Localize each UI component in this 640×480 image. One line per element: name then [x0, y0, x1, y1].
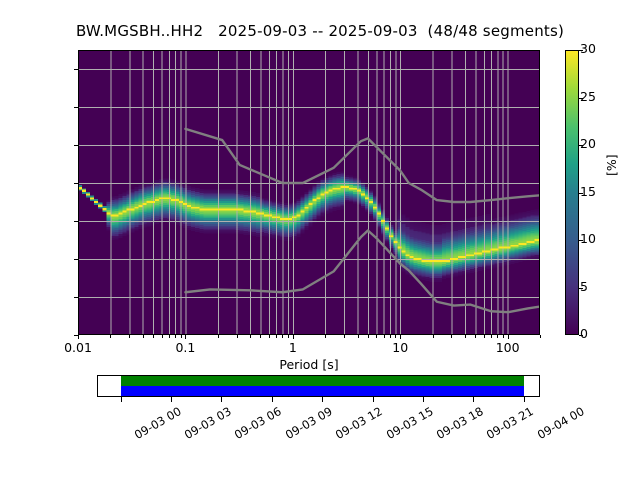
timeline-tick-label: 09-03 00	[132, 404, 184, 442]
x-minor-tick-mark	[358, 335, 359, 338]
timeline-tick-label: 09-03 18	[434, 404, 486, 442]
x-tick-label: 0.1	[175, 340, 195, 355]
x-minor-tick-mark	[153, 335, 154, 338]
colorbar-tick-mark	[579, 335, 583, 336]
x-tick-label: 10	[392, 340, 408, 355]
x-minor-tick-mark	[484, 335, 485, 338]
x-minor-tick-mark	[465, 335, 466, 338]
colorbar-tick-mark	[579, 288, 583, 289]
x-major-tick-mark	[185, 335, 186, 339]
ppsd-figure: BW.MGSBH..HH2 2025-09-03 -- 2025-09-03 (…	[0, 0, 640, 480]
y-tick-mark	[74, 183, 78, 184]
timeline-tick-mark	[524, 397, 525, 402]
x-minor-tick-mark	[497, 335, 498, 338]
x-minor-tick-mark	[540, 335, 541, 338]
colorbar-tick-mark	[579, 145, 583, 146]
colorbar-tick-mark	[579, 50, 583, 51]
x-minor-tick-mark	[344, 335, 345, 338]
x-minor-tick-mark	[218, 335, 219, 338]
x-minor-tick-mark	[143, 335, 144, 338]
timeline-tick-mark	[322, 397, 323, 402]
psd-canvas	[78, 50, 540, 335]
y-tick-mark	[74, 69, 78, 70]
colorbar-tick-label: 25	[580, 92, 596, 102]
x-minor-tick-mark	[129, 335, 130, 338]
x-minor-tick-mark	[260, 335, 261, 338]
timeline-tick-label: 09-03 03	[182, 404, 234, 442]
y-tick-mark	[74, 297, 78, 298]
data-coverage-bar	[121, 376, 524, 386]
timeline-tick-label: 09-03 21	[484, 404, 536, 442]
x-minor-tick-mark	[288, 335, 289, 338]
timeline-tick-label: 09-03 12	[333, 404, 385, 442]
timeline-tick-mark	[473, 397, 474, 402]
x-minor-tick-mark	[325, 335, 326, 338]
x-minor-tick-mark	[395, 335, 396, 338]
x-minor-tick-mark	[250, 335, 251, 338]
x-tick-label: 100	[496, 340, 520, 355]
timeline-tick-mark	[272, 397, 273, 402]
y-tick-mark	[74, 107, 78, 108]
colorbar[interactable]	[565, 50, 579, 335]
timeline-tick-label: 09-04 00	[534, 404, 586, 442]
x-minor-tick-mark	[376, 335, 377, 338]
timeline-tick-mark	[423, 397, 424, 402]
x-minor-tick-mark	[282, 335, 283, 338]
x-minor-tick-mark	[368, 335, 369, 338]
colorbar-tick-label: 15	[580, 187, 596, 197]
x-tick-label: 1	[289, 340, 297, 355]
x-minor-tick-mark	[390, 335, 391, 338]
x-major-tick-mark	[293, 335, 294, 339]
timeline-tick-mark	[121, 397, 122, 402]
colorbar-tick-label: 5	[580, 282, 588, 292]
x-minor-tick-mark	[175, 335, 176, 338]
timeline-tick-label: 09-03 09	[283, 404, 335, 442]
x-minor-tick-mark	[110, 335, 111, 338]
colorbar-tick-label: 0	[580, 329, 588, 339]
timeline-tick-mark	[373, 397, 374, 402]
x-minor-tick-mark	[451, 335, 452, 338]
y-tick-mark	[74, 259, 78, 260]
colorbar-tick-label: 20	[580, 139, 596, 149]
x-major-tick-mark	[400, 335, 401, 339]
page-title: BW.MGSBH..HH2 2025-09-03 -- 2025-09-03 (…	[0, 22, 640, 40]
y-tick-mark	[74, 221, 78, 222]
colorbar-label: [%]	[604, 154, 619, 176]
x-minor-tick-mark	[169, 335, 170, 338]
psd-coverage-bar	[121, 386, 524, 396]
x-major-tick-mark	[508, 335, 509, 339]
timeline-tick-label: 09-03 06	[232, 404, 284, 442]
x-minor-tick-mark	[276, 335, 277, 338]
x-minor-tick-mark	[433, 335, 434, 338]
x-minor-tick-mark	[475, 335, 476, 338]
colorbar-tick-mark	[579, 98, 583, 99]
x-minor-tick-mark	[237, 335, 238, 338]
x-minor-tick-mark	[269, 335, 270, 338]
x-minor-tick-mark	[491, 335, 492, 338]
psd-plot-area[interactable]	[78, 50, 540, 335]
x-minor-tick-mark	[503, 335, 504, 338]
timeline-tick-mark	[171, 397, 172, 402]
timeline-coverage-box[interactable]	[97, 375, 540, 397]
x-minor-tick-mark	[162, 335, 163, 338]
x-minor-tick-mark	[181, 335, 182, 338]
timeline-tick-label: 09-03 15	[384, 404, 436, 442]
x-tick-label: 0.01	[64, 340, 92, 355]
x-major-tick-mark	[78, 335, 79, 339]
x-axis-label: Period [s]	[78, 357, 540, 372]
x-minor-tick-mark	[384, 335, 385, 338]
colorbar-tick-label: 30	[580, 44, 596, 54]
y-tick-mark	[74, 145, 78, 146]
colorbar-tick-mark	[579, 193, 583, 194]
colorbar-tick-mark	[579, 240, 583, 241]
timeline-tick-mark	[221, 397, 222, 402]
colorbar-tick-label: 10	[580, 234, 596, 244]
